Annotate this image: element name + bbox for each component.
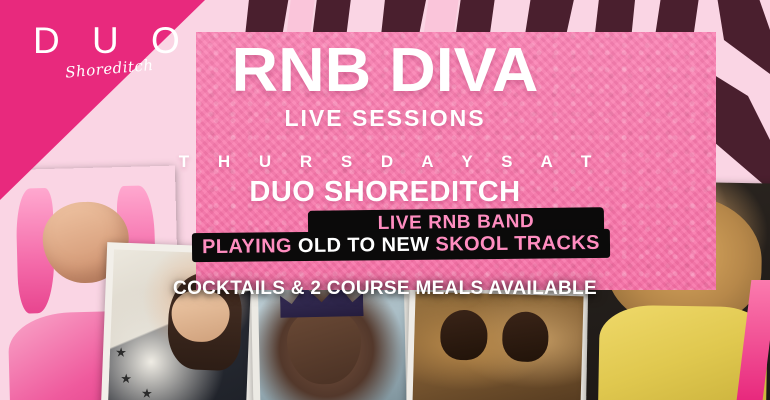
tracks-label-skool-tracks: SKOOL TRACKS <box>435 232 600 257</box>
event-title: RNB DIVA <box>0 42 770 100</box>
event-day-label: T H U R S D A Y S A T <box>0 152 770 172</box>
event-subtitle: LIVE SESSIONS <box>0 105 770 132</box>
poster-text-layer: RNB DIVA LIVE SESSIONS T H U R S D A Y S… <box>0 0 770 400</box>
event-poster: ★ ★ ★ D U O Shoreditch RNB DIVA LIVE SES… <box>0 0 770 400</box>
venue-name: DUO SHOREDITCH <box>0 176 770 209</box>
tracks-label-new: NEW <box>381 234 429 258</box>
tracks-label-old-to: OLD TO <box>298 234 376 258</box>
tracks-banner: PLAYING OLD TO NEW SKOOL TRACKS <box>192 229 610 262</box>
tracks-label-playing: PLAYING <box>202 235 292 259</box>
offer-text: COCKTAILS & 2 COURSE MEALS AVAILABLE <box>0 278 770 300</box>
